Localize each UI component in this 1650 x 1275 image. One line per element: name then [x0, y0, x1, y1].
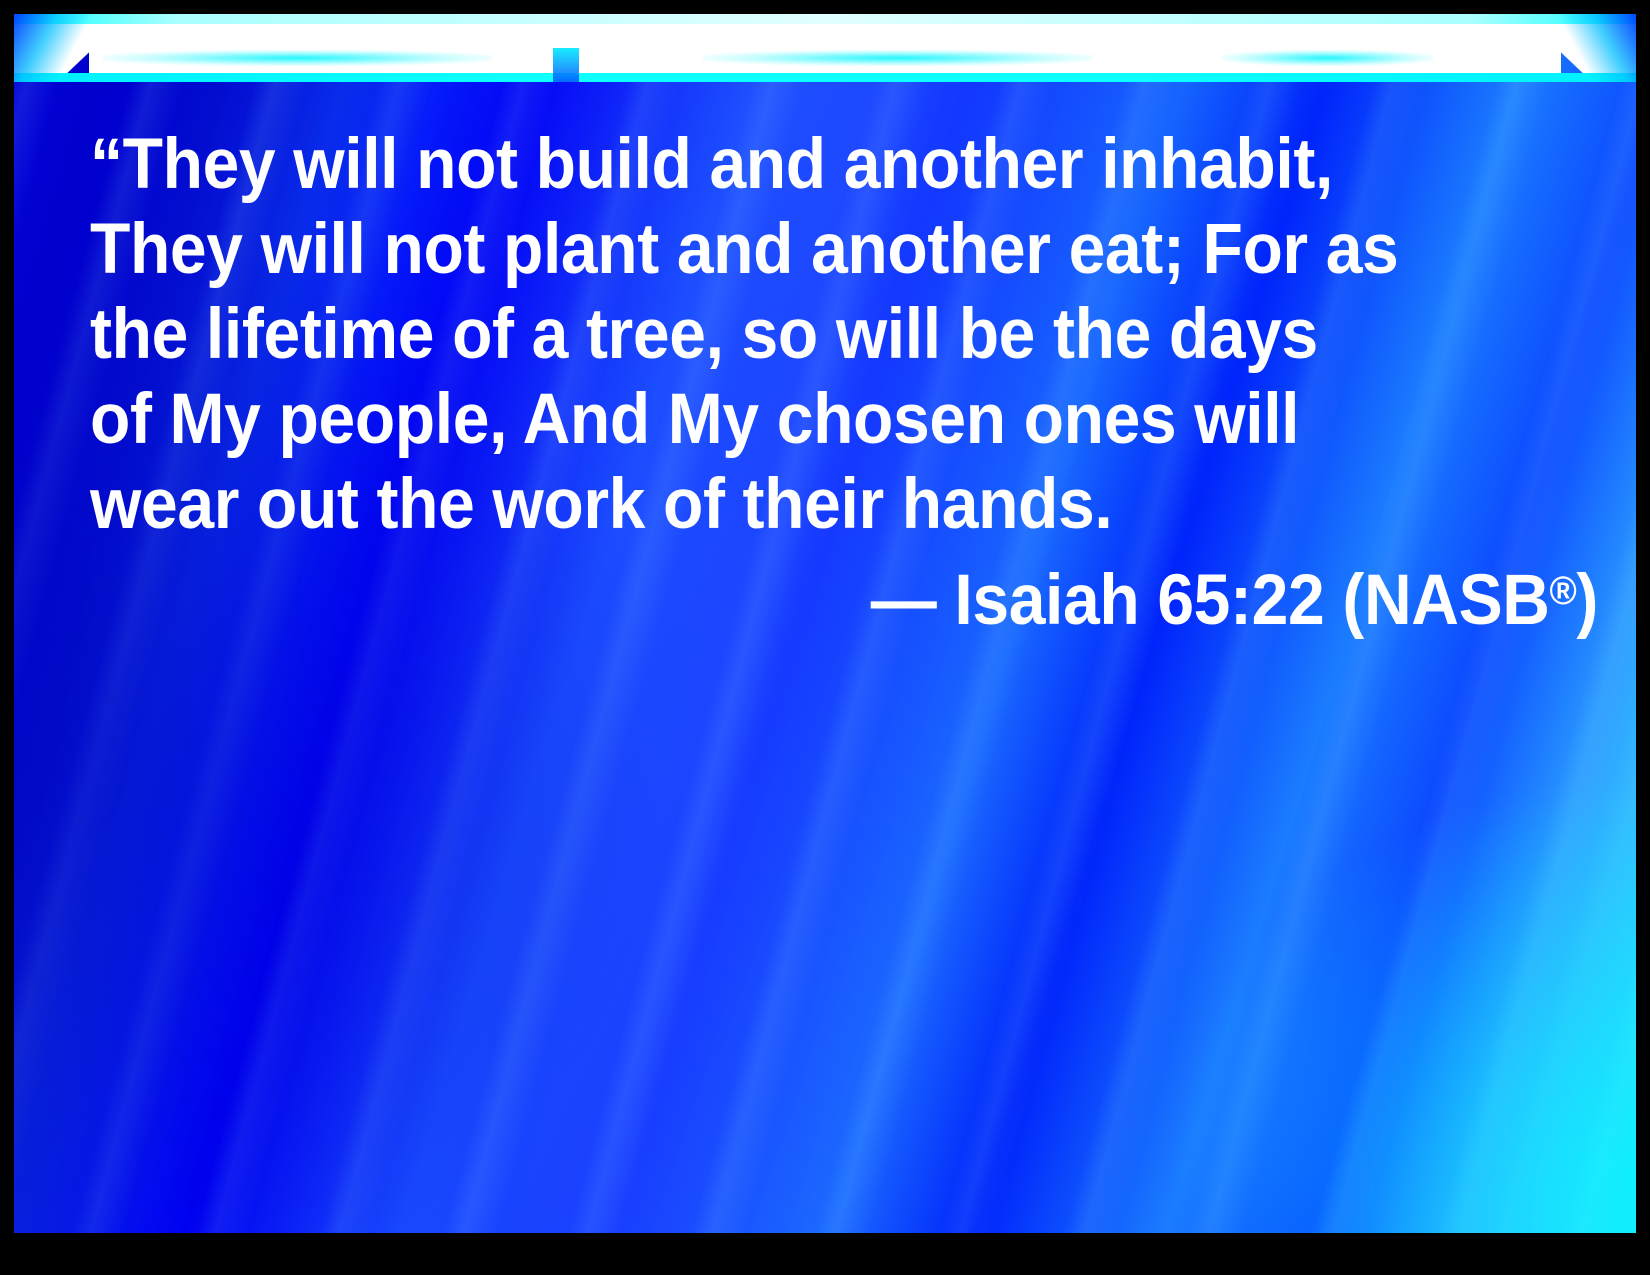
attribution-reference: 65:22: [1157, 561, 1324, 640]
header-white-band: [14, 14, 1636, 82]
header-band-cyan-wisp: [1222, 50, 1433, 66]
quote-line-3: the lifetime of a tree, so will be the d…: [90, 292, 1492, 377]
attribution-version-close: ): [1576, 561, 1598, 640]
quote-line-1: “They will not build and another inhabit…: [90, 122, 1492, 207]
header-band-notch: [553, 48, 579, 82]
quote-line-4: of My people, And My chosen ones will: [90, 377, 1492, 462]
header-band-cyan-wisp: [703, 50, 1092, 66]
header-band-top-glow: [14, 14, 1636, 24]
attribution-dash: —: [871, 561, 937, 640]
quote-line-2: They will not plant and another eat; For…: [90, 207, 1492, 292]
header-band-right-taper: [1545, 14, 1636, 82]
bible-verse-slide: “They will not build and another inhabit…: [0, 0, 1650, 1275]
registered-trademark-icon: ®: [1550, 569, 1577, 613]
attribution-version-open: (NASB: [1342, 561, 1549, 640]
header-band-bottom-glow: [14, 73, 1636, 82]
header-band-fill: [89, 14, 1562, 82]
quote-line-5: wear out the work of their hands.: [90, 462, 1492, 547]
header-band-cyan-wisp: [103, 50, 492, 66]
attribution-inner: — Isaiah 65:22 (NASB®): [871, 549, 1598, 643]
header-band-left-taper: [14, 14, 105, 82]
scripture-quote: “They will not build and another inhabit…: [90, 122, 1598, 547]
attribution-book: Isaiah: [954, 561, 1139, 640]
scripture-attribution: — Isaiah 65:22 (NASB®): [90, 549, 1598, 643]
slide-artwork-background: “They will not build and another inhabit…: [14, 14, 1636, 1233]
